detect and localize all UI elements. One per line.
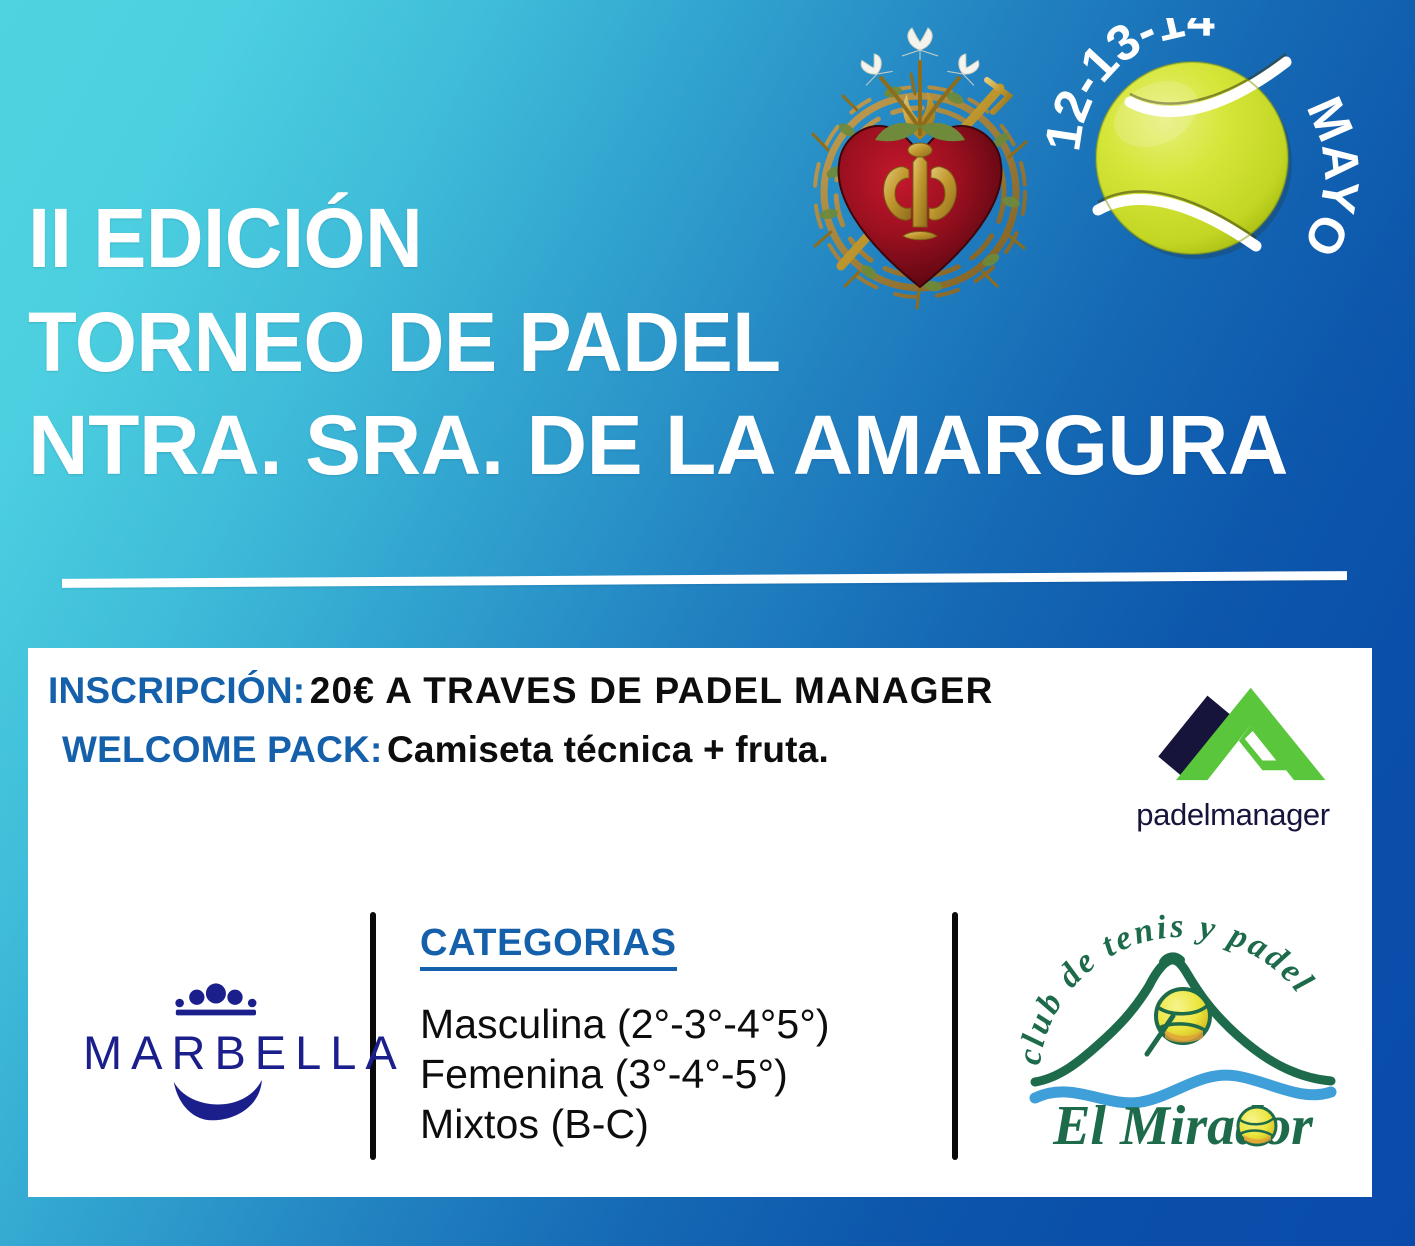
- categories-list: Masculina (2°-3°-4°5°) Femenina (3°-4°-5…: [420, 999, 940, 1149]
- marbella-swoosh-icon: [74, 1076, 354, 1122]
- inscription-label: INSCRIPCIÓN:: [48, 670, 305, 711]
- padelmanager-mark-icon: [1113, 670, 1353, 788]
- inscription-row: INSCRIPCIÓN: 20€ A TRAVES DE PADEL MANAG…: [48, 672, 1108, 709]
- inscription-value: 20€ A TRAVES DE PADEL MANAGER: [310, 670, 994, 711]
- marbella-crown-icon: [74, 982, 354, 1024]
- svg-text:MAYO: MAYO: [1293, 89, 1370, 266]
- inscription-block: INSCRIPCIÓN: 20€ A TRAVES DE PADEL MANAG…: [48, 672, 1108, 768]
- categories-block: CATEGORIAS Masculina (2°-3°-4°5°) Femeni…: [420, 924, 940, 1149]
- date-tennis-ball-badge: 12-13-14 MAYO: [1040, 18, 1370, 318]
- info-card: INSCRIPCIÓN: 20€ A TRAVES DE PADEL MANAG…: [28, 648, 1372, 1197]
- tournament-poster: II EDICIÓN TORNEO DE PADEL NTRA. SRA. DE…: [0, 0, 1415, 1246]
- sacred-heart-emblem-icon: [795, 22, 1045, 312]
- sponsors-and-categories-row: MARBELLA CATEGORIAS Masculina (2°-3°-4°5…: [28, 904, 1372, 1197]
- marbella-wordmark: MARBELLA: [74, 1029, 354, 1076]
- padelmanager-wordmark: padelmanager: [1112, 797, 1354, 833]
- mirador-arc-text: club de tenis y padel: [1013, 912, 1322, 1067]
- welcome-pack-value: Camiseta técnica + fruta.: [387, 729, 829, 770]
- vertical-divider-right: [952, 912, 958, 1160]
- padelmanager-logo: padelmanager: [1112, 670, 1354, 830]
- categories-title: CATEGORIAS: [420, 924, 677, 971]
- horizontal-divider-rule: [62, 571, 1347, 588]
- category-item: Femenina (3°-4°-5°): [420, 1049, 940, 1099]
- marbella-logo: MARBELLA: [74, 982, 354, 1132]
- category-item: Mixtos (B-C): [420, 1099, 940, 1149]
- date-month-text: MAYO: [1293, 89, 1370, 266]
- category-item: Masculina (2°-3°-4°5°): [420, 999, 940, 1049]
- el-mirador-logo: club de tenis y padel El Mirador: [1013, 912, 1353, 1152]
- welcome-pack-row: WELCOME PACK: Camiseta técnica + fruta.: [48, 731, 1108, 768]
- welcome-pack-label: WELCOME PACK:: [62, 729, 383, 770]
- svg-text:club de tenis y padel: club de tenis y padel: [1013, 912, 1322, 1067]
- headline-line-3: NTRA. SRA. DE LA AMARGURA: [28, 403, 1380, 489]
